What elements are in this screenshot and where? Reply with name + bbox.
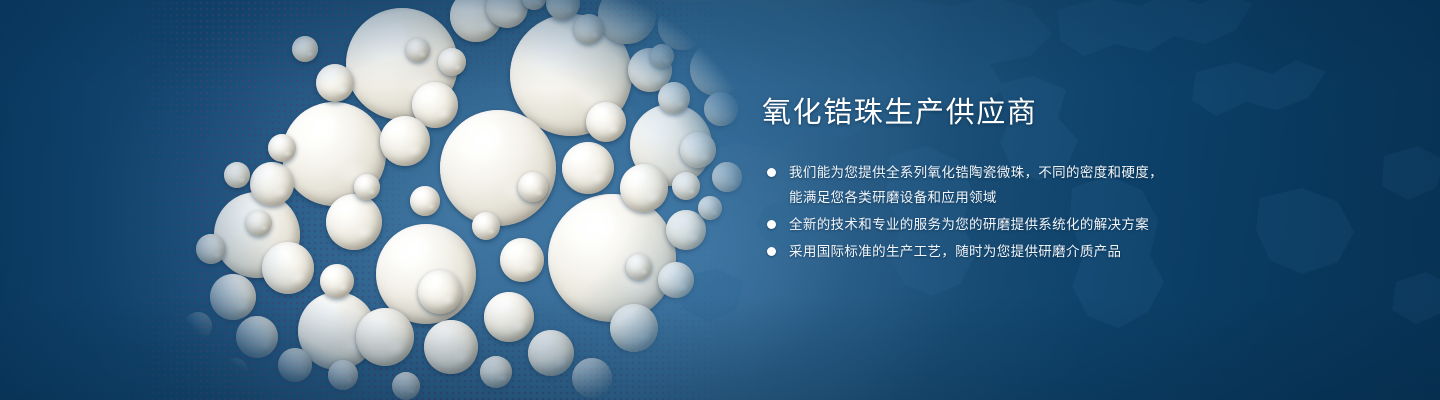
feature-bullet-item: 我们能为您提供全系列氧化锆陶瓷微珠，不同的密度和硬度， 能满足您各类研磨设备和应…	[762, 160, 1322, 210]
feature-bullet-item: 采用国际标准的生产工艺，随时为您提供研磨介质产品	[762, 239, 1322, 264]
banner-content: 氧化锆珠生产供应商 我们能为您提供全系列氧化锆陶瓷微珠，不同的密度和硬度， 能满…	[762, 96, 1322, 266]
hero-banner: 氧化锆珠生产供应商 我们能为您提供全系列氧化锆陶瓷微珠，不同的密度和硬度， 能满…	[0, 0, 1440, 400]
bullet-dot-icon	[767, 247, 776, 256]
bullet-text-line: 我们能为您提供全系列氧化锆陶瓷微珠，不同的密度和硬度，	[789, 160, 1322, 185]
bullet-dot-icon	[767, 220, 776, 229]
banner-headline: 氧化锆珠生产供应商	[762, 96, 1322, 130]
feature-bullet-list: 我们能为您提供全系列氧化锆陶瓷微珠，不同的密度和硬度， 能满足您各类研磨设备和应…	[762, 160, 1322, 264]
bullet-text-line: 能满足您各类研磨设备和应用领域	[789, 185, 1322, 210]
bullet-text-line: 全新的技术和专业的服务为您的研磨提供系统化的解决方案	[789, 212, 1322, 237]
feature-bullet-item: 全新的技术和专业的服务为您的研磨提供系统化的解决方案	[762, 212, 1322, 237]
bullet-dot-icon	[767, 168, 776, 177]
bullet-text-line: 采用国际标准的生产工艺，随时为您提供研磨介质产品	[789, 239, 1322, 264]
